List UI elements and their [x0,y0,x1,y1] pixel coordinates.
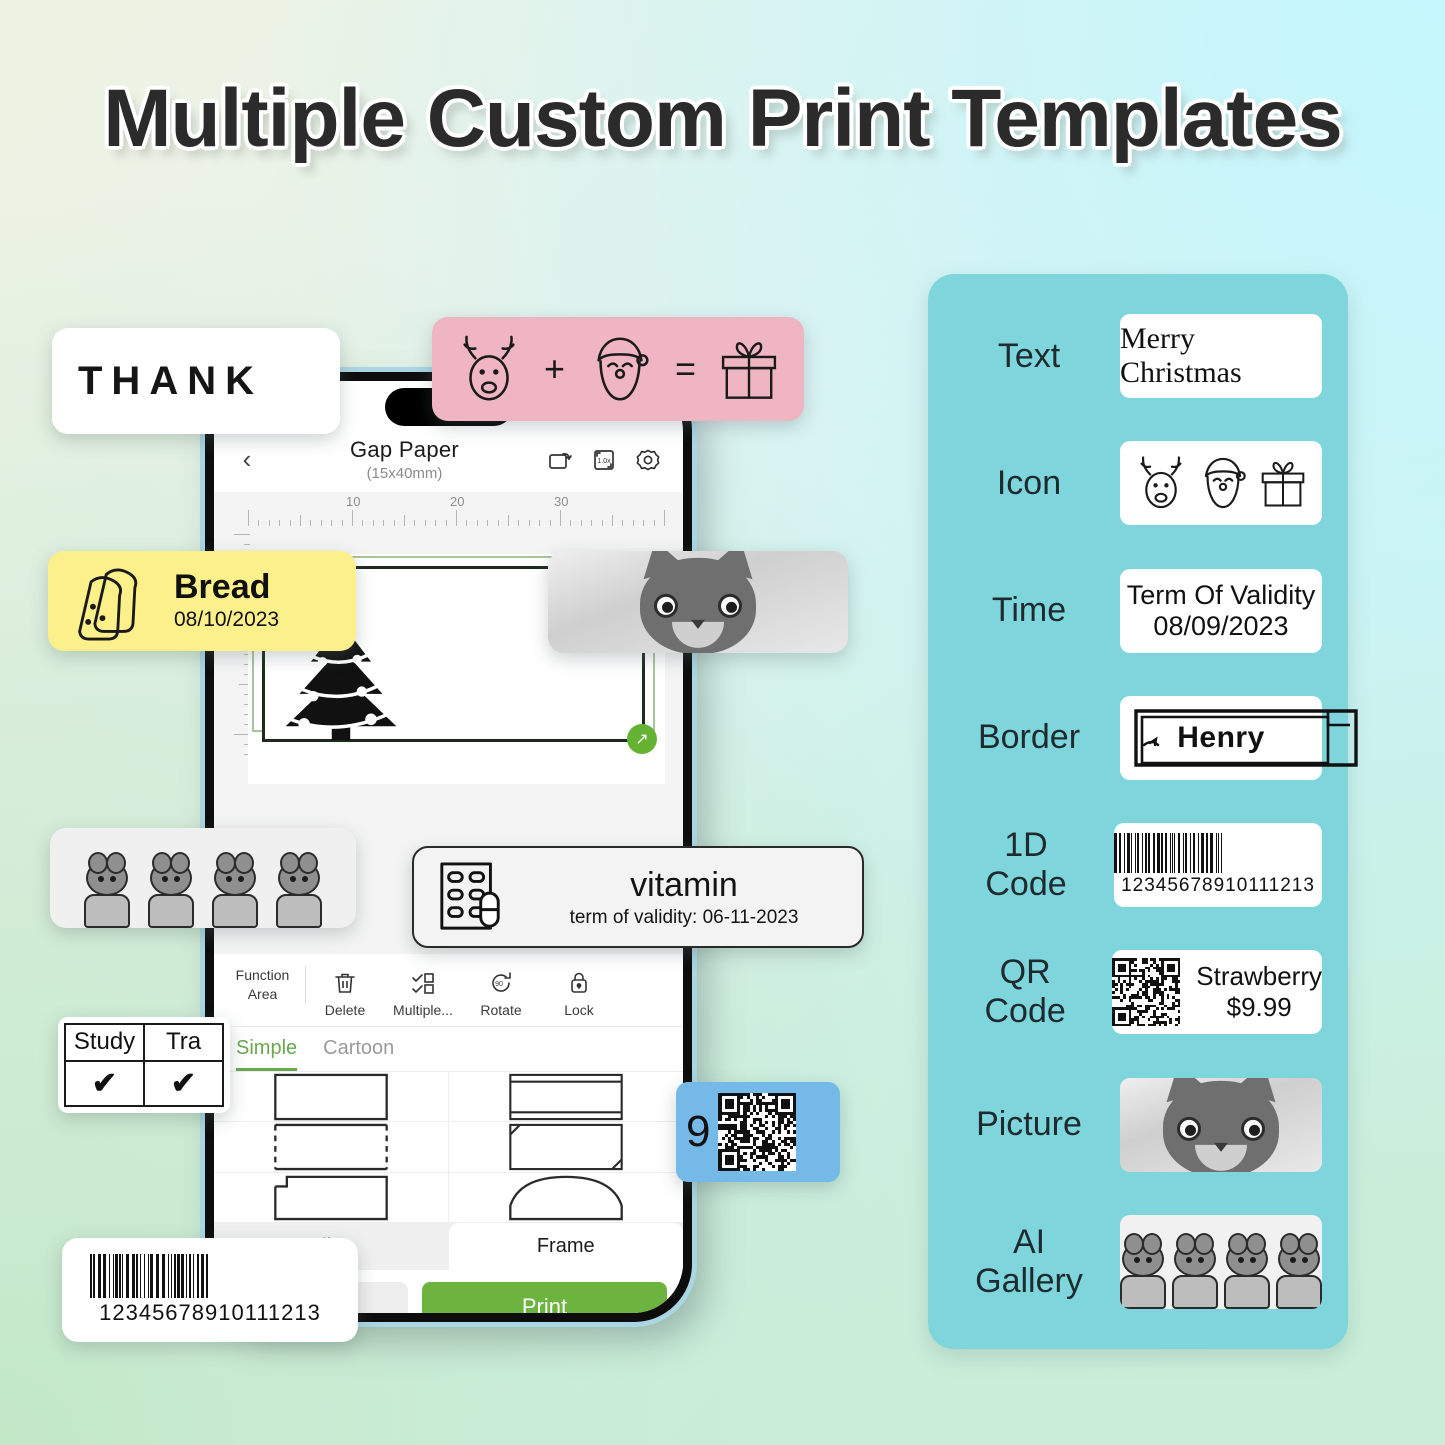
sticker-vitamin: vitamin term of validity: 06-11-2023 [412,846,864,948]
qr-code-icon [718,1093,796,1171]
frame-option-folded-corner[interactable] [449,1122,684,1172]
rotate-90-icon: 90 [462,966,540,1000]
page-paper-size: (15x40mm) [264,465,545,482]
squirrels-illustration [50,828,356,928]
svg-text:1.0x: 1.0x [597,458,611,465]
squirrel-1 [78,860,136,928]
table-row-checks: ✔ ✔ [65,1061,223,1106]
panel-preview-1d-code[interactable]: 12345678910111213 [1114,823,1322,907]
panel-row-border: Border Henry [954,696,1322,780]
panel-1d-code-number: 12345678910111213 [1121,875,1315,897]
santa-icon [1192,452,1254,514]
style-tab-bar: Simple Cartoon [214,1027,683,1071]
panel-border-value: Henry [1177,721,1265,755]
multi-select-icon [384,966,462,1000]
squirrel-4 [1276,1241,1322,1309]
panel-preview-ai-gallery[interactable] [1120,1215,1322,1309]
panel-row-ai-gallery: AI Gallery [954,1215,1322,1309]
squirrel-3 [206,860,264,928]
svg-text:90: 90 [495,981,503,988]
page-title: Multiple Custom Print Templates [0,72,1445,166]
tool-multiple[interactable]: Multiple... [384,966,462,1018]
cat-eye-left [654,594,678,618]
poster-canvas: Multiple Custom Print Templates 11:28 ‹ … [0,0,1445,1445]
bread-slices-icon [64,561,160,641]
gift-icon [712,331,786,407]
plus-sign: + [544,348,565,390]
santa-icon [581,331,659,407]
cat-eye-left [1177,1117,1201,1141]
cat-head [640,558,756,653]
sticker-thank: THANK [52,328,340,434]
panel-row-time: Time Term Of Validity 08/09/2023 [954,569,1322,653]
panel-time-line1: Term Of Validity [1127,580,1316,611]
panel-preview-icons[interactable] [1120,441,1322,525]
equals-sign: = [675,348,696,390]
panel-time-line2: 08/09/2023 [1153,611,1288,642]
panel-label-qr-code: QR Code [954,953,1096,1031]
tab-cartoon[interactable]: Cartoon [323,1037,394,1071]
panel-label-text: Text [954,337,1104,376]
table-header-transport: Tra [144,1024,223,1061]
table-check-transport: ✔ [144,1061,223,1106]
panel-qr-text: Strawberry $9.99 [1196,961,1322,1023]
sticker-thank-text: THANK [78,359,263,404]
sticker-study-table: Study Tra ✔ ✔ [58,1017,230,1113]
panel-row-1d-code: 1D Code 12345678910111213 [954,823,1322,907]
squirrel-3 [1224,1241,1270,1309]
sticker-bread: Bread 08/10/2023 [48,551,356,651]
panel-preview-text-value: Merry Christmas [1120,322,1322,390]
scale-1-0x-icon[interactable]: 1.0x [589,445,619,475]
pill-blister-icon [436,860,506,934]
sticker-vitamin-subtitle: term of validity: 06-11-2023 [528,907,840,929]
function-area-toolbar: Function Area Delete [214,954,683,1027]
sticker-vitamin-text: vitamin term of validity: 06-11-2023 [528,866,840,929]
cat-ear-right [1233,1078,1285,1102]
page-paper-title: Gap Paper [264,437,545,463]
panel-label-1d-code: 1D Code [954,826,1098,904]
study-checklist-table: Study Tra ✔ ✔ [64,1023,224,1107]
panel-qr-line1: Strawberry [1196,961,1322,992]
horizontal-ruler: 102030 [248,492,683,534]
squirrels-illustration [1120,1215,1322,1309]
sticker-qr-price: 9 [676,1082,840,1182]
chevron-left-icon[interactable]: ‹ [230,443,264,477]
table-check-study: ✔ [65,1061,144,1106]
frame-option-dashed-sides[interactable] [214,1122,449,1172]
lock-icon [540,966,618,1000]
cat-ear-left [1157,1078,1209,1102]
cat-photo [1120,1078,1322,1172]
sticker-bread-title: Bread [174,570,279,604]
panel-preview-qr-code[interactable]: Strawberry $9.99 [1112,950,1322,1034]
function-area-label-line2: Area [228,985,297,1004]
function-area-label-line1: Function [228,966,297,985]
barcode-icon [1114,833,1322,873]
app-bar: ‹ Gap Paper (15x40mm) [214,433,683,492]
sticker-vitamin-title: vitamin [528,866,840,905]
cat-ear-left [634,551,686,579]
sticker-ai-gallery [50,828,356,928]
gift-icon [1254,452,1312,514]
sticker-barcode-number: 12345678910111213 [99,1300,321,1326]
cat-eye-right [718,594,742,618]
tab-frame[interactable]: Frame [449,1223,684,1270]
panel-label-ai-gallery: AI Gallery [954,1223,1104,1301]
table-header-study: Study [65,1024,144,1061]
rotate-page-icon[interactable] [545,445,575,475]
trash-icon [306,966,384,1000]
sticker-qr-price-text: 9 [686,1107,710,1157]
reindeer-icon [1130,452,1192,514]
squirrel-1 [1120,1241,1166,1309]
cat-eye-right [1241,1117,1265,1141]
sticker-barcode: 12345678910111213 [62,1238,358,1342]
frame-option-plain[interactable] [214,1072,449,1122]
tool-multiple-label: Multiple... [384,1002,462,1018]
squirrel-2 [142,860,200,928]
barcode-icon [90,1254,330,1298]
tool-delete-label: Delete [306,1002,384,1018]
tab-simple[interactable]: Simple [236,1037,297,1071]
tool-lock-label: Lock [540,1002,618,1018]
panel-preview-time[interactable]: Term Of Validity 08/09/2023 [1120,569,1322,653]
frame-option-tab-top[interactable] [214,1173,449,1223]
app-bar-title-block: Gap Paper (15x40mm) [264,437,545,482]
qr-code-icon [1112,958,1180,1026]
sticker-christmas-equation: + = [432,317,804,421]
cat-photo [548,551,848,653]
panel-preview-picture[interactable] [1120,1078,1322,1172]
cat-nose [691,620,705,629]
reindeer-icon [450,331,528,407]
cat-nose [1214,1143,1228,1152]
panel-preview-text[interactable]: Merry Christmas [1120,314,1322,398]
tool-delete[interactable]: Delete [306,966,384,1018]
panel-row-qr-code: QR Code Strawberry $9.99 [954,950,1322,1034]
panel-label-picture: Picture [954,1105,1104,1144]
panel-label-icon: Icon [954,464,1104,503]
sticker-bread-text: Bread 08/10/2023 [174,570,279,632]
sticker-bread-date: 08/10/2023 [174,608,279,632]
panel-row-icon: Icon [954,441,1322,525]
table-row-headers: Study Tra [65,1024,223,1061]
frame-template-grid [214,1071,683,1223]
tool-rotate-label: Rotate [462,1002,540,1018]
panel-row-picture: Picture [954,1078,1322,1172]
squirrel-4 [270,860,328,928]
cat-head [1163,1081,1279,1172]
tool-rotate[interactable]: 90 Rotate [462,966,540,1018]
frame-option-double-bar[interactable] [449,1072,684,1122]
function-area-label: Function Area [228,966,306,1004]
app-bar-actions: 1.0x [545,445,667,475]
tool-lock[interactable]: Lock [540,966,618,1018]
panel-label-border: Border [954,718,1104,757]
panel-row-text: Text Merry Christmas [954,314,1322,398]
template-type-panel: Text Merry Christmas Icon [928,274,1348,1349]
gear-icon[interactable] [633,445,663,475]
print-button[interactable]: Print [422,1282,667,1313]
frame-option-curved-top[interactable] [449,1173,684,1223]
resize-handle[interactable]: ↗ [627,724,657,754]
panel-qr-line2: $9.99 [1196,992,1322,1023]
squirrel-2 [1172,1241,1218,1309]
panel-label-time: Time [954,591,1104,630]
sticker-cat-picture [548,551,848,653]
panel-preview-border[interactable]: Henry [1120,696,1322,780]
cat-ear-right [710,551,762,579]
